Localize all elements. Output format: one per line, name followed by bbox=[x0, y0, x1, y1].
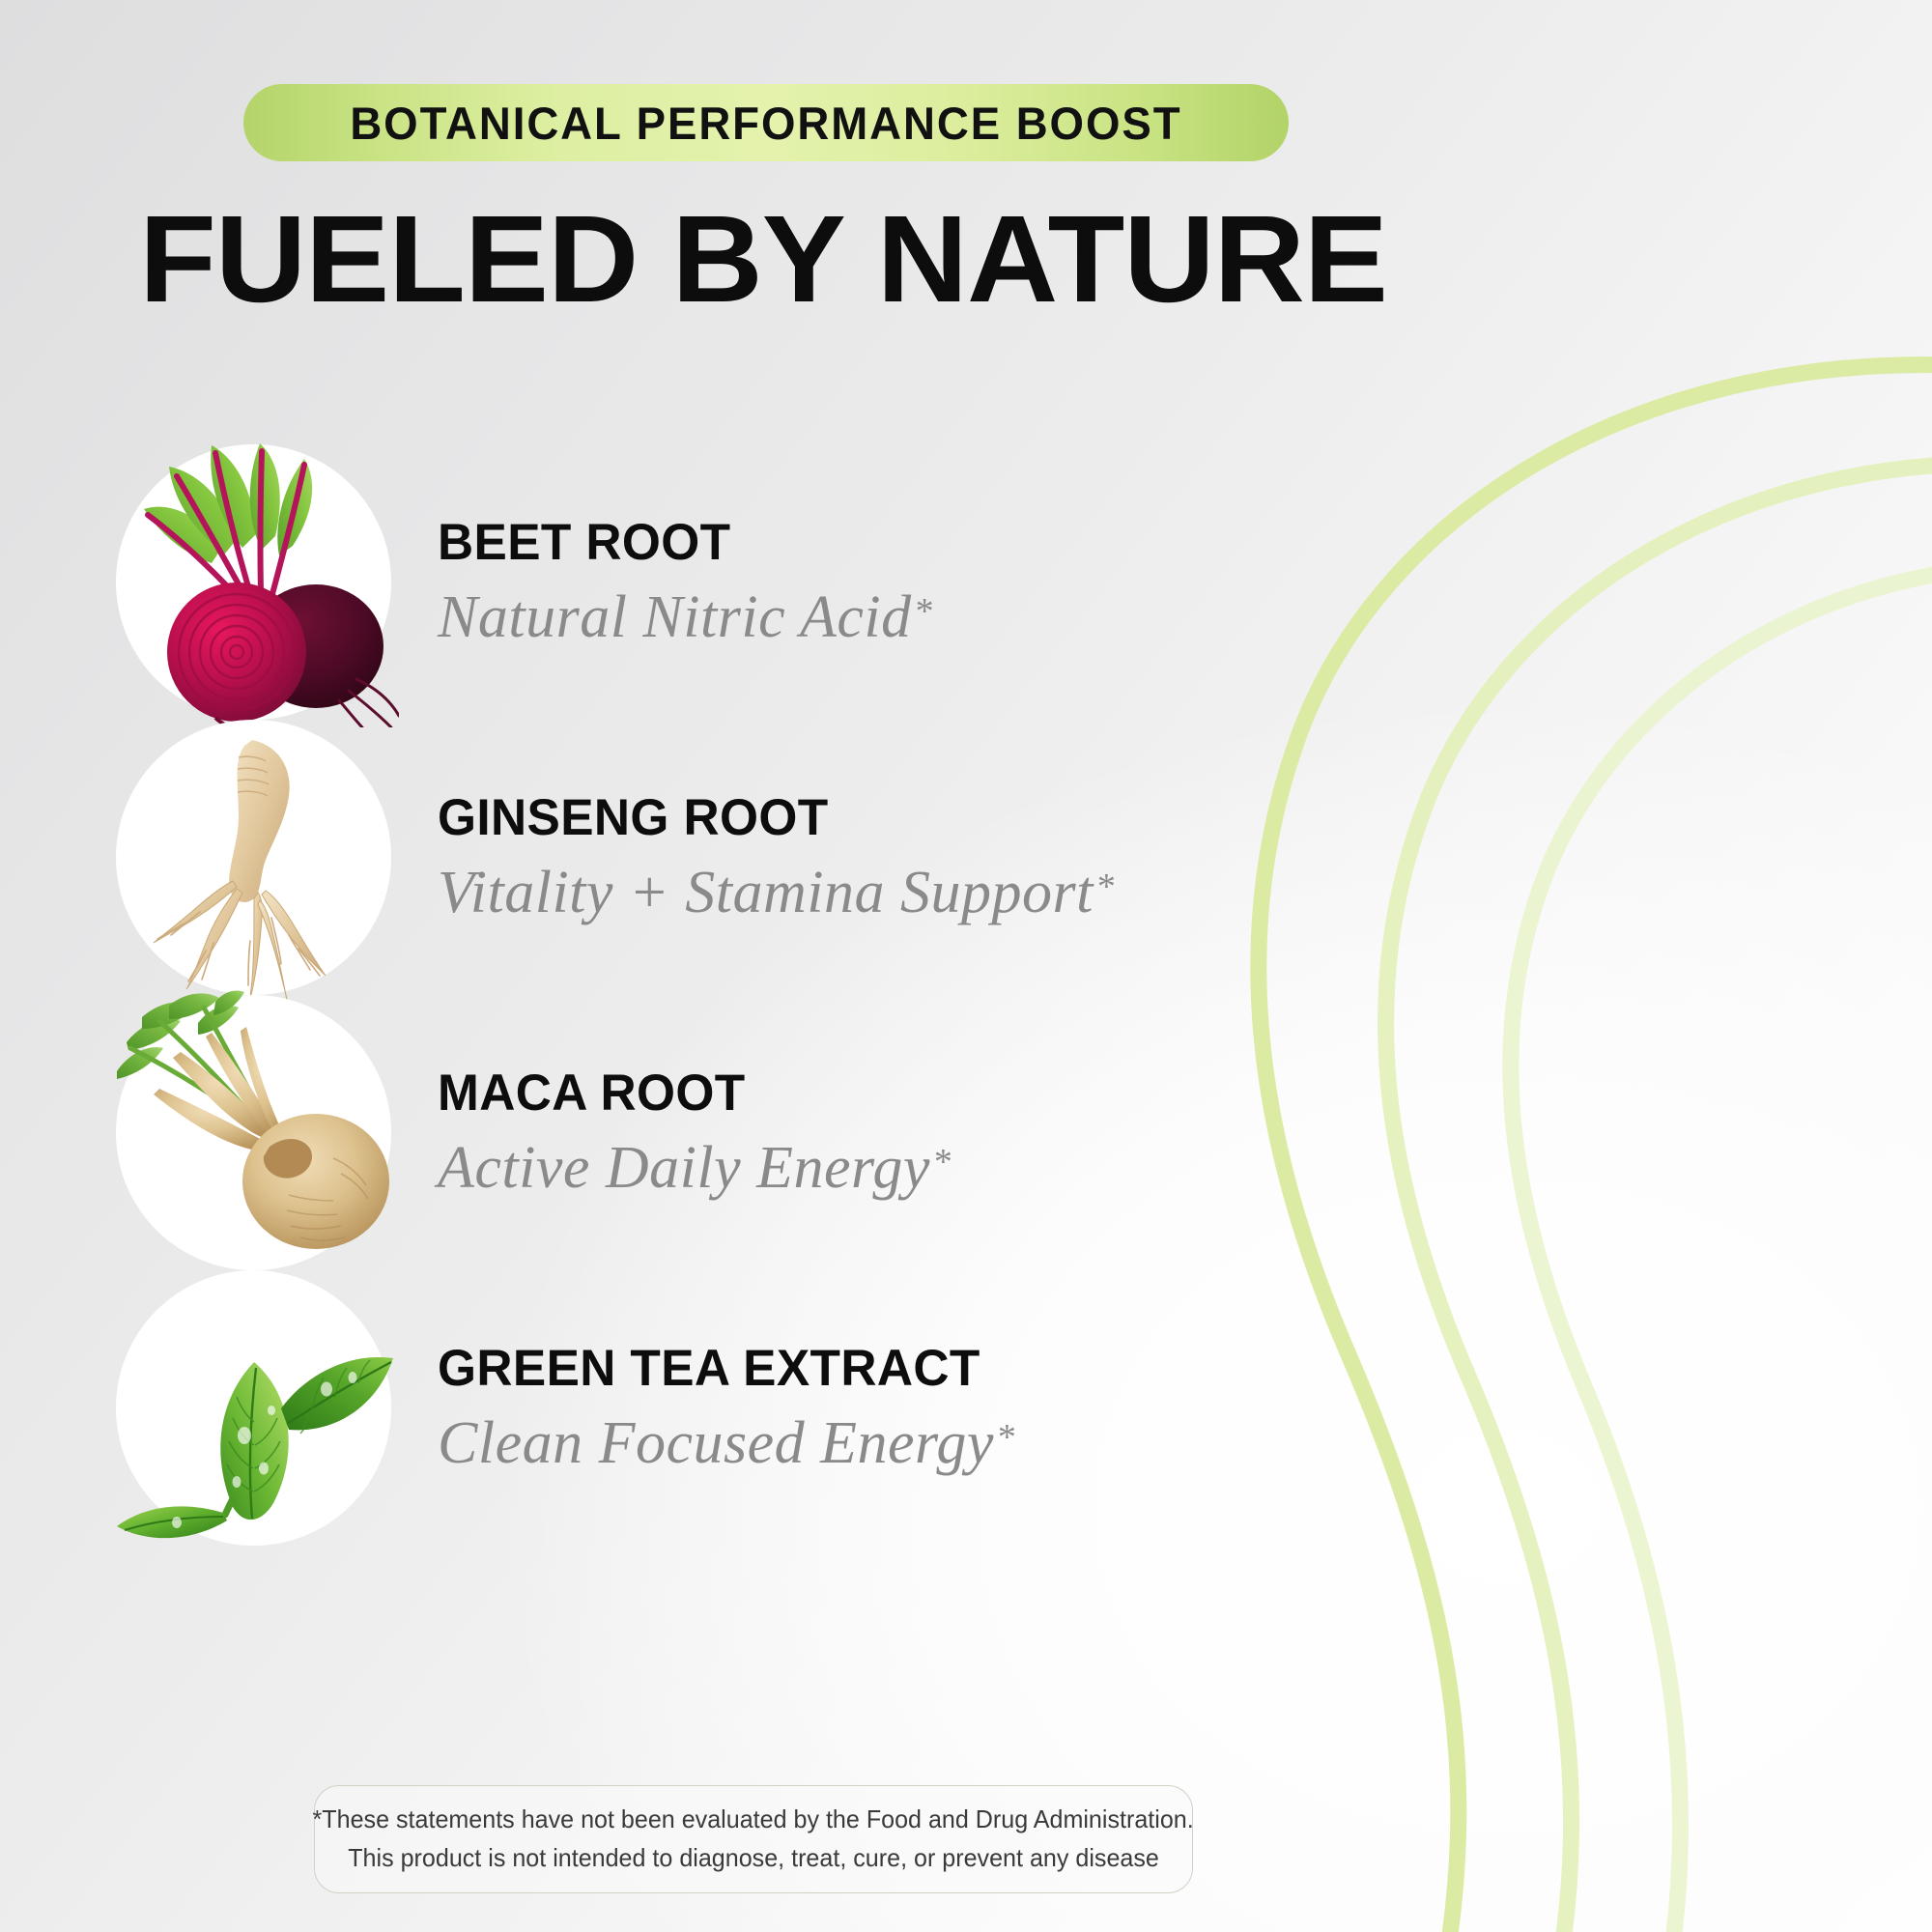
disclaimer-line-2: This product is not intended to diagnose… bbox=[348, 1839, 1159, 1878]
footnote-marker: * bbox=[1097, 867, 1117, 907]
ingredient-description: Clean Focused Energy* bbox=[438, 1409, 1016, 1478]
ingredient-list: BEET ROOT Natural Nitric Acid* bbox=[0, 0, 1932, 1932]
badge-ginseng-root bbox=[116, 720, 391, 995]
ginseng-root-icon bbox=[109, 713, 399, 1003]
disclaimer-box: *These statements have not been evaluate… bbox=[314, 1785, 1193, 1893]
ingredient-description: Active Daily Energy* bbox=[438, 1134, 952, 1203]
badge-beet-root bbox=[116, 444, 391, 720]
infographic-poster: BOTANICAL PERFORMANCE BOOST FUELED BY NA… bbox=[0, 0, 1932, 1932]
ingredient-description-text: Vitality + Stamina Support bbox=[438, 860, 1094, 925]
ingredient-item-beet-root: BEET ROOT Natural Nitric Acid* bbox=[116, 444, 934, 720]
ingredient-text-maca-root: MACA ROOT Active Daily Energy* bbox=[438, 1064, 952, 1203]
ingredient-name: MACA ROOT bbox=[438, 1064, 937, 1122]
ingredient-name: GINSENG ROOT bbox=[438, 788, 1095, 847]
ingredient-description: Natural Nitric Acid* bbox=[438, 583, 934, 652]
ingredient-description-text: Clean Focused Energy bbox=[438, 1410, 994, 1476]
ingredient-name: BEET ROOT bbox=[438, 513, 920, 572]
green-tea-leaf-icon bbox=[109, 1264, 399, 1553]
beet-root-icon bbox=[109, 438, 399, 727]
badge-green-tea-extract bbox=[116, 1270, 391, 1546]
footnote-marker: * bbox=[934, 1142, 953, 1182]
ingredient-item-maca-root: MACA ROOT Active Daily Energy* bbox=[116, 995, 952, 1270]
ingredient-description-text: Natural Nitric Acid bbox=[438, 584, 912, 650]
maca-root-icon bbox=[109, 988, 399, 1278]
ingredient-description: Vitality + Stamina Support* bbox=[438, 859, 1116, 927]
ingredient-item-green-tea-extract: GREEN TEA EXTRACT Clean Focused Energy* bbox=[116, 1270, 1016, 1546]
badge-maca-root bbox=[116, 995, 391, 1270]
ingredient-text-ginseng-root: GINSENG ROOT Vitality + Stamina Support* bbox=[438, 788, 1116, 927]
footnote-marker: * bbox=[998, 1417, 1017, 1458]
disclaimer-line-1: *These statements have not been evaluate… bbox=[313, 1801, 1194, 1839]
ingredient-item-ginseng-root: GINSENG ROOT Vitality + Stamina Support* bbox=[116, 720, 1116, 995]
ingredient-name: GREEN TEA EXTRACT bbox=[438, 1339, 999, 1398]
footnote-marker: * bbox=[916, 591, 935, 632]
ingredient-text-green-tea-extract: GREEN TEA EXTRACT Clean Focused Energy* bbox=[438, 1339, 1016, 1478]
ingredient-description-text: Active Daily Energy bbox=[438, 1135, 930, 1201]
ingredient-text-beet-root: BEET ROOT Natural Nitric Acid* bbox=[438, 513, 934, 652]
